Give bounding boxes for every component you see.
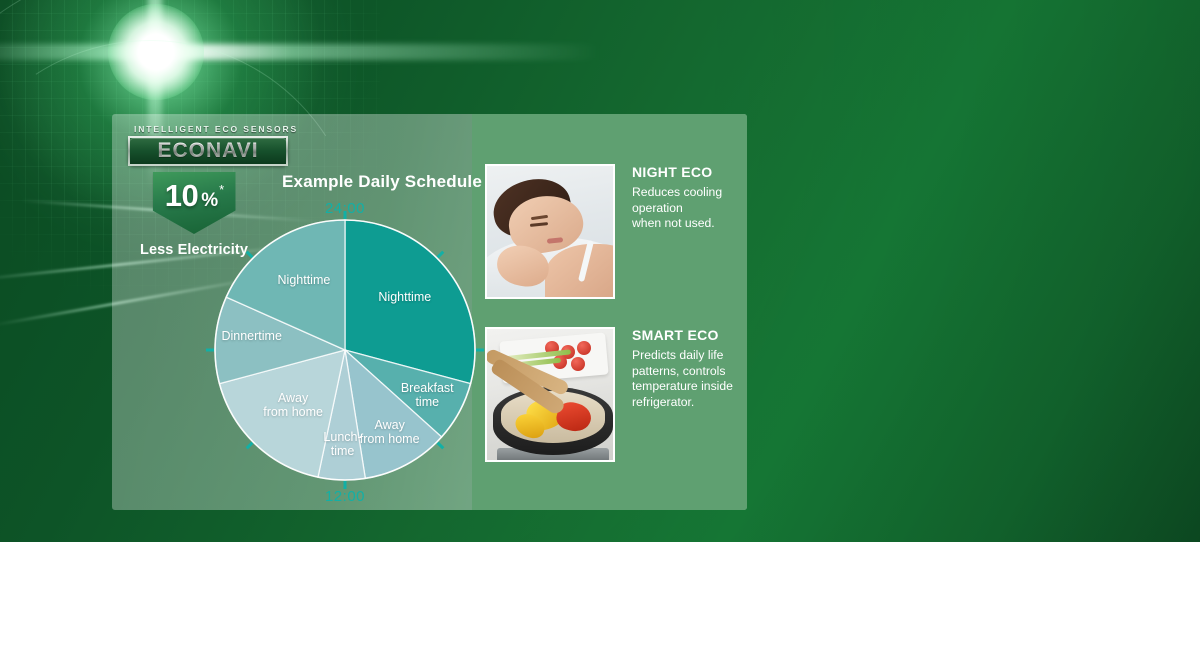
hour-tick (438, 252, 444, 258)
feature-title: NIGHT ECO (632, 164, 744, 180)
pie-slice-label: Away from home (248, 391, 338, 419)
econavi-logo: INTELLIGENT ECO SENSORS ECONAVI (128, 124, 308, 166)
pie-slice-label: Nighttime (259, 273, 349, 287)
econavi-banner-stage: INTELLIGENT ECO SENSORS ECONAVI 10 % * L… (0, 0, 1200, 650)
econavi-tagline: INTELLIGENT ECO SENSORS (128, 124, 308, 134)
econavi-wordmark: ECONAVI (157, 139, 258, 163)
feature-title: SMART ECO (632, 327, 744, 343)
hour-tick (247, 443, 253, 449)
savings-badge-number: 10 (165, 178, 198, 214)
feature-description: Predicts daily life patterns, controls t… (632, 348, 744, 410)
daily-schedule-pie-chart: 24:00 12:00 NighttimeBreakfast timeAway … (200, 192, 490, 502)
feature-description: Reduces cooling operation when not used. (632, 185, 744, 232)
sleeping-woman-photo (485, 164, 615, 299)
pie-slice-label: Breakfast time (382, 381, 472, 409)
pie-slice-label: Nighttime (360, 290, 450, 304)
cooking-pan-photo (485, 327, 615, 462)
hour-tick (247, 252, 253, 258)
chart-title: Example Daily Schedule (252, 172, 512, 192)
econavi-logo-plate: ECONAVI (128, 136, 288, 166)
hour-tick (438, 443, 444, 449)
content-panel: INTELLIGENT ECO SENSORS ECONAVI 10 % * L… (112, 114, 747, 510)
pie-slice-label: Lunch- time (298, 430, 388, 458)
pie-slice-label: Dinnertime (207, 329, 297, 343)
